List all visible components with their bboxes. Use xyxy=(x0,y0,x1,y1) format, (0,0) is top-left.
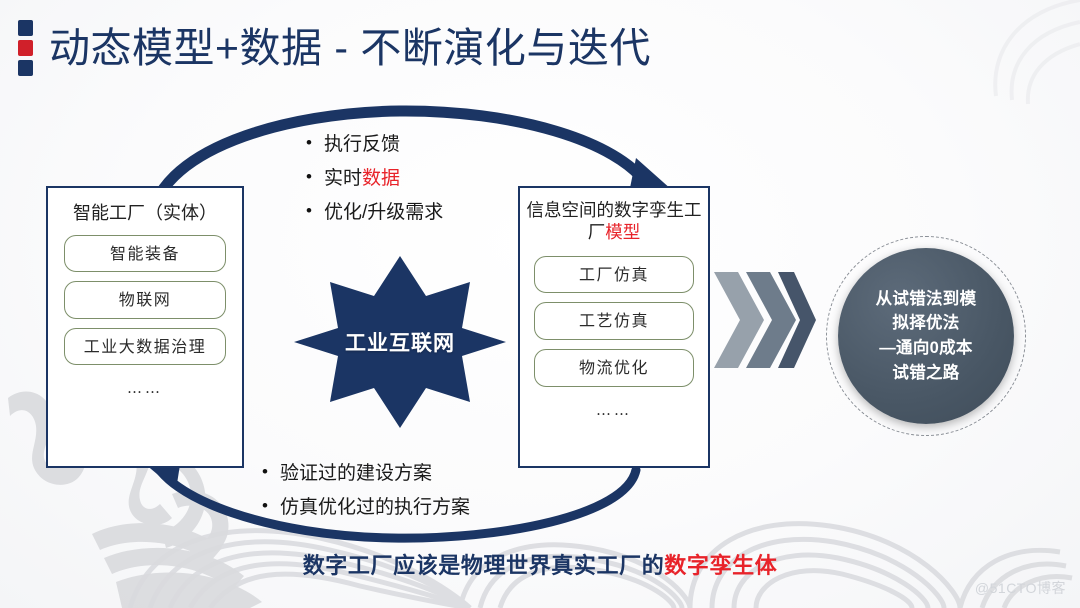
right-box-title: 信息空间的数字孪生工厂模型 xyxy=(520,188,708,244)
right-box-title-accent: 模型 xyxy=(605,222,640,242)
bullet-marker: • xyxy=(262,491,280,521)
left-box-title: 智能工厂（实体） xyxy=(48,188,242,225)
top-bullet-list: • 执行反馈 • 实时数据 • 优化/升级需求 xyxy=(306,128,443,229)
outcome-circle-line: 试错之路 xyxy=(876,361,977,386)
outcome-circle: 从试错法到模拟择优法—通向0成本试错之路 xyxy=(838,248,1014,424)
left-box-ellipsis: …… xyxy=(48,379,242,397)
bullet-marker: • xyxy=(306,128,324,158)
chip-item[interactable]: 工厂仿真 xyxy=(534,256,694,294)
bullet-text: 实时 xyxy=(324,162,362,196)
caption-main: 数字工厂应该是物理世界真实工厂的 xyxy=(303,553,665,578)
bullet-marker: • xyxy=(306,196,324,226)
bullet-text: 执行反馈 xyxy=(324,128,400,162)
bullet-text: 优化/升级需求 xyxy=(324,196,443,230)
outcome-circle-line: 从试错法到模 xyxy=(876,287,977,312)
bottom-caption: 数字工厂应该是物理世界真实工厂的数字孪生体 xyxy=(0,548,1080,580)
chip-item[interactable]: 工业大数据治理 xyxy=(64,328,226,366)
background-corner-decoration xyxy=(720,0,1080,200)
star-label: 工业互联网 xyxy=(292,252,508,432)
bullet-marker: • xyxy=(262,457,280,487)
right-box-chip-list: 工厂仿真 工艺仿真 物流优化 xyxy=(520,256,708,387)
bullet-marker: • xyxy=(306,162,324,192)
outcome-circle-wrap: 从试错法到模拟择优法—通向0成本试错之路 xyxy=(826,236,1026,436)
outcome-circle-line: 拟择优法 xyxy=(876,311,977,336)
bullet-text-accent: 数据 xyxy=(362,162,400,196)
left-entity-box: 智能工厂（实体） 智能装备 物联网 工业大数据治理 …… xyxy=(46,186,244,468)
bullet-text: 验证过的建设方案 xyxy=(280,457,432,491)
bullet-item: • 仿真优化过的执行方案 xyxy=(262,491,470,525)
right-digital-twin-box: 信息空间的数字孪生工厂模型 工厂仿真 工艺仿真 物流优化 …… xyxy=(518,186,710,468)
bottom-bullet-list: • 验证过的建设方案 • 仿真优化过的执行方案 xyxy=(262,457,470,525)
title-marker-square-navy-bottom xyxy=(18,60,33,76)
page-title: 动态模型+数据 - 不断演化与迭代 xyxy=(49,28,651,69)
chip-item[interactable]: 智能装备 xyxy=(64,235,226,273)
bullet-text: 仿真优化过的执行方案 xyxy=(280,491,470,525)
chevron-group xyxy=(712,268,816,372)
caption-accent: 数字孪生体 xyxy=(664,553,777,578)
bullet-item: • 执行反馈 xyxy=(306,128,443,162)
bullet-item: • 优化/升级需求 xyxy=(306,196,443,230)
chip-item[interactable]: 物联网 xyxy=(64,281,226,319)
industrial-internet-star: 工业互联网 xyxy=(292,252,508,432)
right-box-ellipsis: …… xyxy=(520,401,708,419)
slide-title-row: 动态模型+数据 - 不断演化与迭代 xyxy=(18,20,651,76)
title-marker-square-red xyxy=(18,40,33,56)
watermark: @51CTO博客 xyxy=(975,578,1066,598)
slide-canvas: 动态模型+数据 - 不断演化与迭代 智能工厂（实体） 智能装备 物联网 工业大数… xyxy=(0,0,1080,608)
chip-item[interactable]: 工艺仿真 xyxy=(534,302,694,340)
title-marker-square-navy-top xyxy=(18,20,33,36)
bullet-item: • 验证过的建设方案 xyxy=(262,457,470,491)
bullet-item: • 实时数据 xyxy=(306,162,443,196)
outcome-circle-text: 从试错法到模拟择优法—通向0成本试错之路 xyxy=(876,287,977,386)
outcome-circle-line: —通向0成本 xyxy=(876,336,977,361)
chip-item[interactable]: 物流优化 xyxy=(534,349,694,387)
title-marker-group xyxy=(18,20,33,76)
left-box-chip-list: 智能装备 物联网 工业大数据治理 xyxy=(48,235,242,366)
